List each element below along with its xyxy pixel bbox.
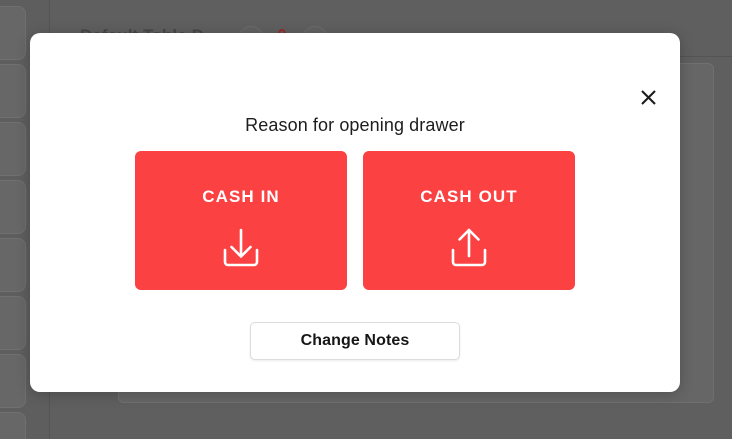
download-arrow-icon [218, 228, 264, 273]
open-drawer-dialog: Reason for opening drawer CASH IN CASH O… [30, 33, 680, 392]
cash-in-label: CASH IN [202, 187, 280, 207]
cash-out-label: CASH OUT [420, 187, 518, 207]
secondary-actions: Change Notes [30, 322, 680, 360]
dialog-title: Reason for opening drawer [30, 115, 680, 136]
cash-in-button[interactable]: CASH IN [135, 151, 347, 290]
close-icon[interactable] [634, 83, 662, 111]
drawer-reason-options: CASH IN CASH OUT [135, 151, 575, 290]
cash-out-button[interactable]: CASH OUT [363, 151, 575, 290]
change-notes-button[interactable]: Change Notes [250, 322, 460, 360]
upload-arrow-icon [446, 228, 492, 273]
screen: Default Table D − 0 + Reason for opening… [0, 0, 732, 439]
